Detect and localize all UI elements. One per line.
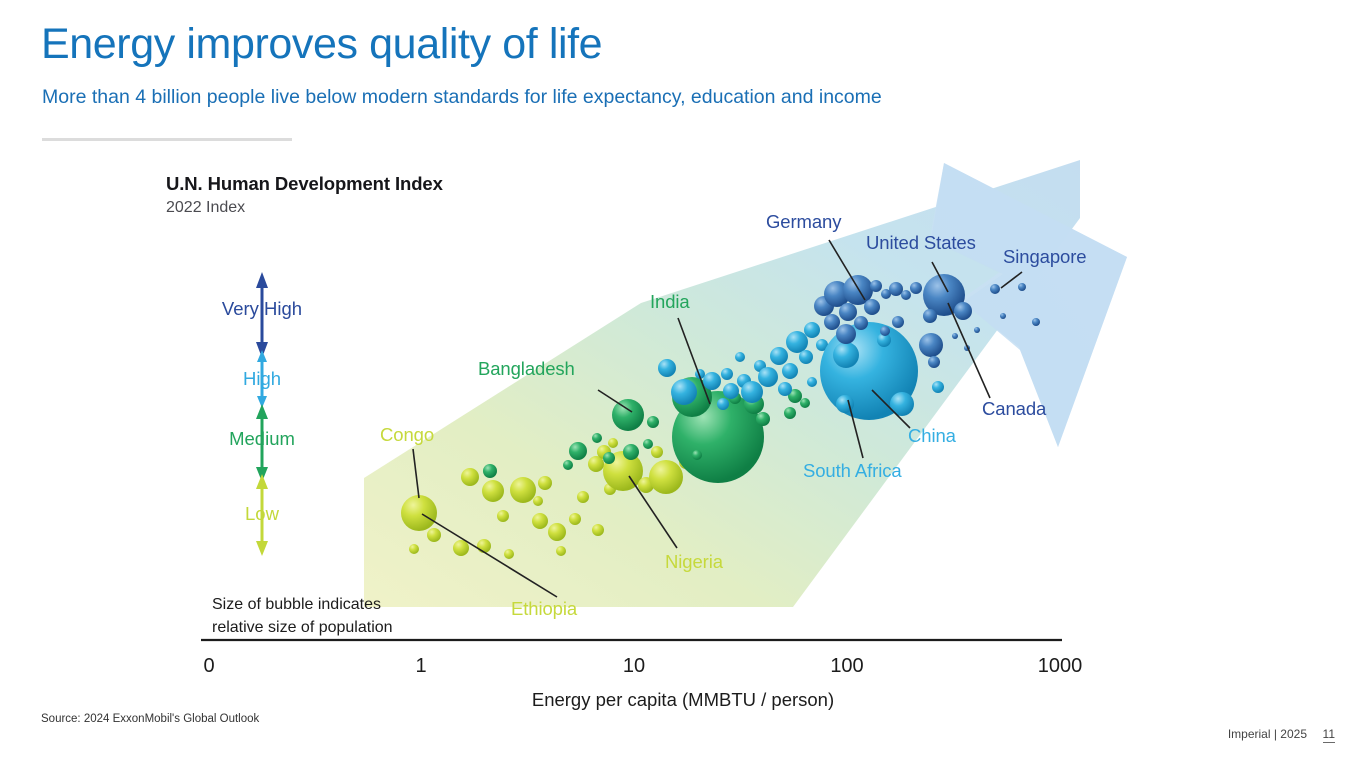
label-singapore: Singapore	[1003, 246, 1086, 268]
footer-brand: Imperial | 2025	[1228, 727, 1307, 741]
x-tick-1: 1	[415, 655, 426, 678]
x-tick-100: 100	[830, 655, 863, 678]
y-category-medium: Medium	[229, 428, 295, 450]
x-tick-1000: 1000	[1038, 655, 1083, 678]
label-canada: Canada	[982, 398, 1046, 420]
label-nigeria: Nigeria	[665, 551, 723, 573]
y-category-high: High	[243, 368, 281, 390]
page-number: 11	[1323, 727, 1335, 743]
y-category-very-high: Very High	[222, 298, 302, 320]
x-tick-0: 0	[203, 655, 214, 678]
slide: Energy improves quality of life More tha…	[0, 0, 1365, 768]
label-germany: Germany	[766, 211, 841, 233]
label-congo: Congo	[380, 424, 434, 446]
x-axis-label: Energy per capita (MMBTU / person)	[532, 689, 834, 711]
label-ethiopia: Ethiopia	[511, 598, 577, 620]
label-india: India	[650, 291, 690, 313]
label-united-states: United States	[866, 232, 976, 254]
bubble-chart	[0, 0, 1365, 768]
label-china: China	[908, 425, 956, 447]
bubble-size-note: Size of bubble indicates relative size o…	[212, 594, 393, 639]
label-south-africa: South Africa	[803, 460, 902, 482]
label-bangladesh: Bangladesh	[478, 358, 575, 380]
bubble-size-note-line2: relative size of population	[212, 617, 393, 640]
bubble-size-note-line1: Size of bubble indicates	[212, 594, 393, 617]
source-note: Source: 2024 ExxonMobil's Global Outlook	[41, 713, 259, 725]
x-tick-10: 10	[623, 655, 645, 678]
y-category-low: Low	[245, 503, 279, 525]
